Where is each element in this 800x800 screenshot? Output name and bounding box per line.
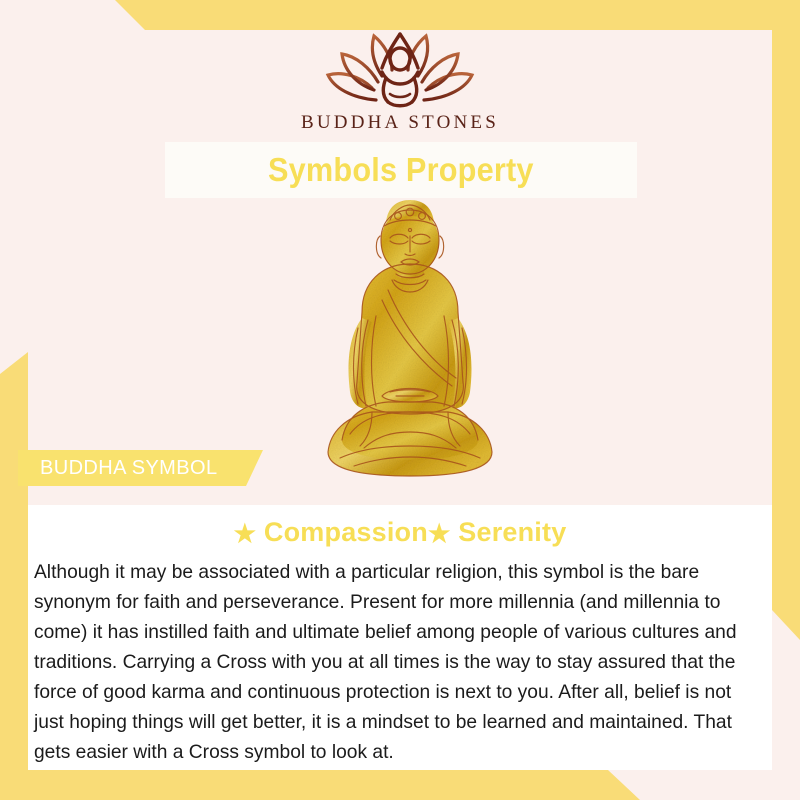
subheading-compassion: Compassion <box>264 517 428 547</box>
ribbon-label: BUDDHA SYMBOL <box>40 457 217 480</box>
content-subheading: ★ Compassion★ Serenity <box>28 517 772 549</box>
decorative-frame-left <box>0 352 28 800</box>
seated-buddha-statue-icon <box>320 200 500 492</box>
decorative-frame-top <box>0 0 800 30</box>
star-icon-left: ★ <box>234 520 257 548</box>
poster-canvas: BUDDHA STONES Symbols Property <box>0 0 800 800</box>
content-card: ★ Compassion★ Serenity Although it may b… <box>28 505 772 770</box>
decorative-frame-bottom <box>0 770 640 800</box>
body-paragraph: Although it may be associated with a par… <box>34 557 755 767</box>
star-icon-right: ★ <box>428 520 451 548</box>
brand-logo: BUDDHA STONES <box>0 28 800 134</box>
section-ribbon: BUDDHA SYMBOL <box>18 450 263 486</box>
subheading-serenity: Serenity <box>458 517 566 547</box>
lotus-meditation-icon <box>0 28 800 110</box>
title-banner: Symbols Property <box>165 142 637 198</box>
brand-name: BUDDHA STONES <box>0 112 800 134</box>
page-title: Symbols Property <box>268 151 534 189</box>
